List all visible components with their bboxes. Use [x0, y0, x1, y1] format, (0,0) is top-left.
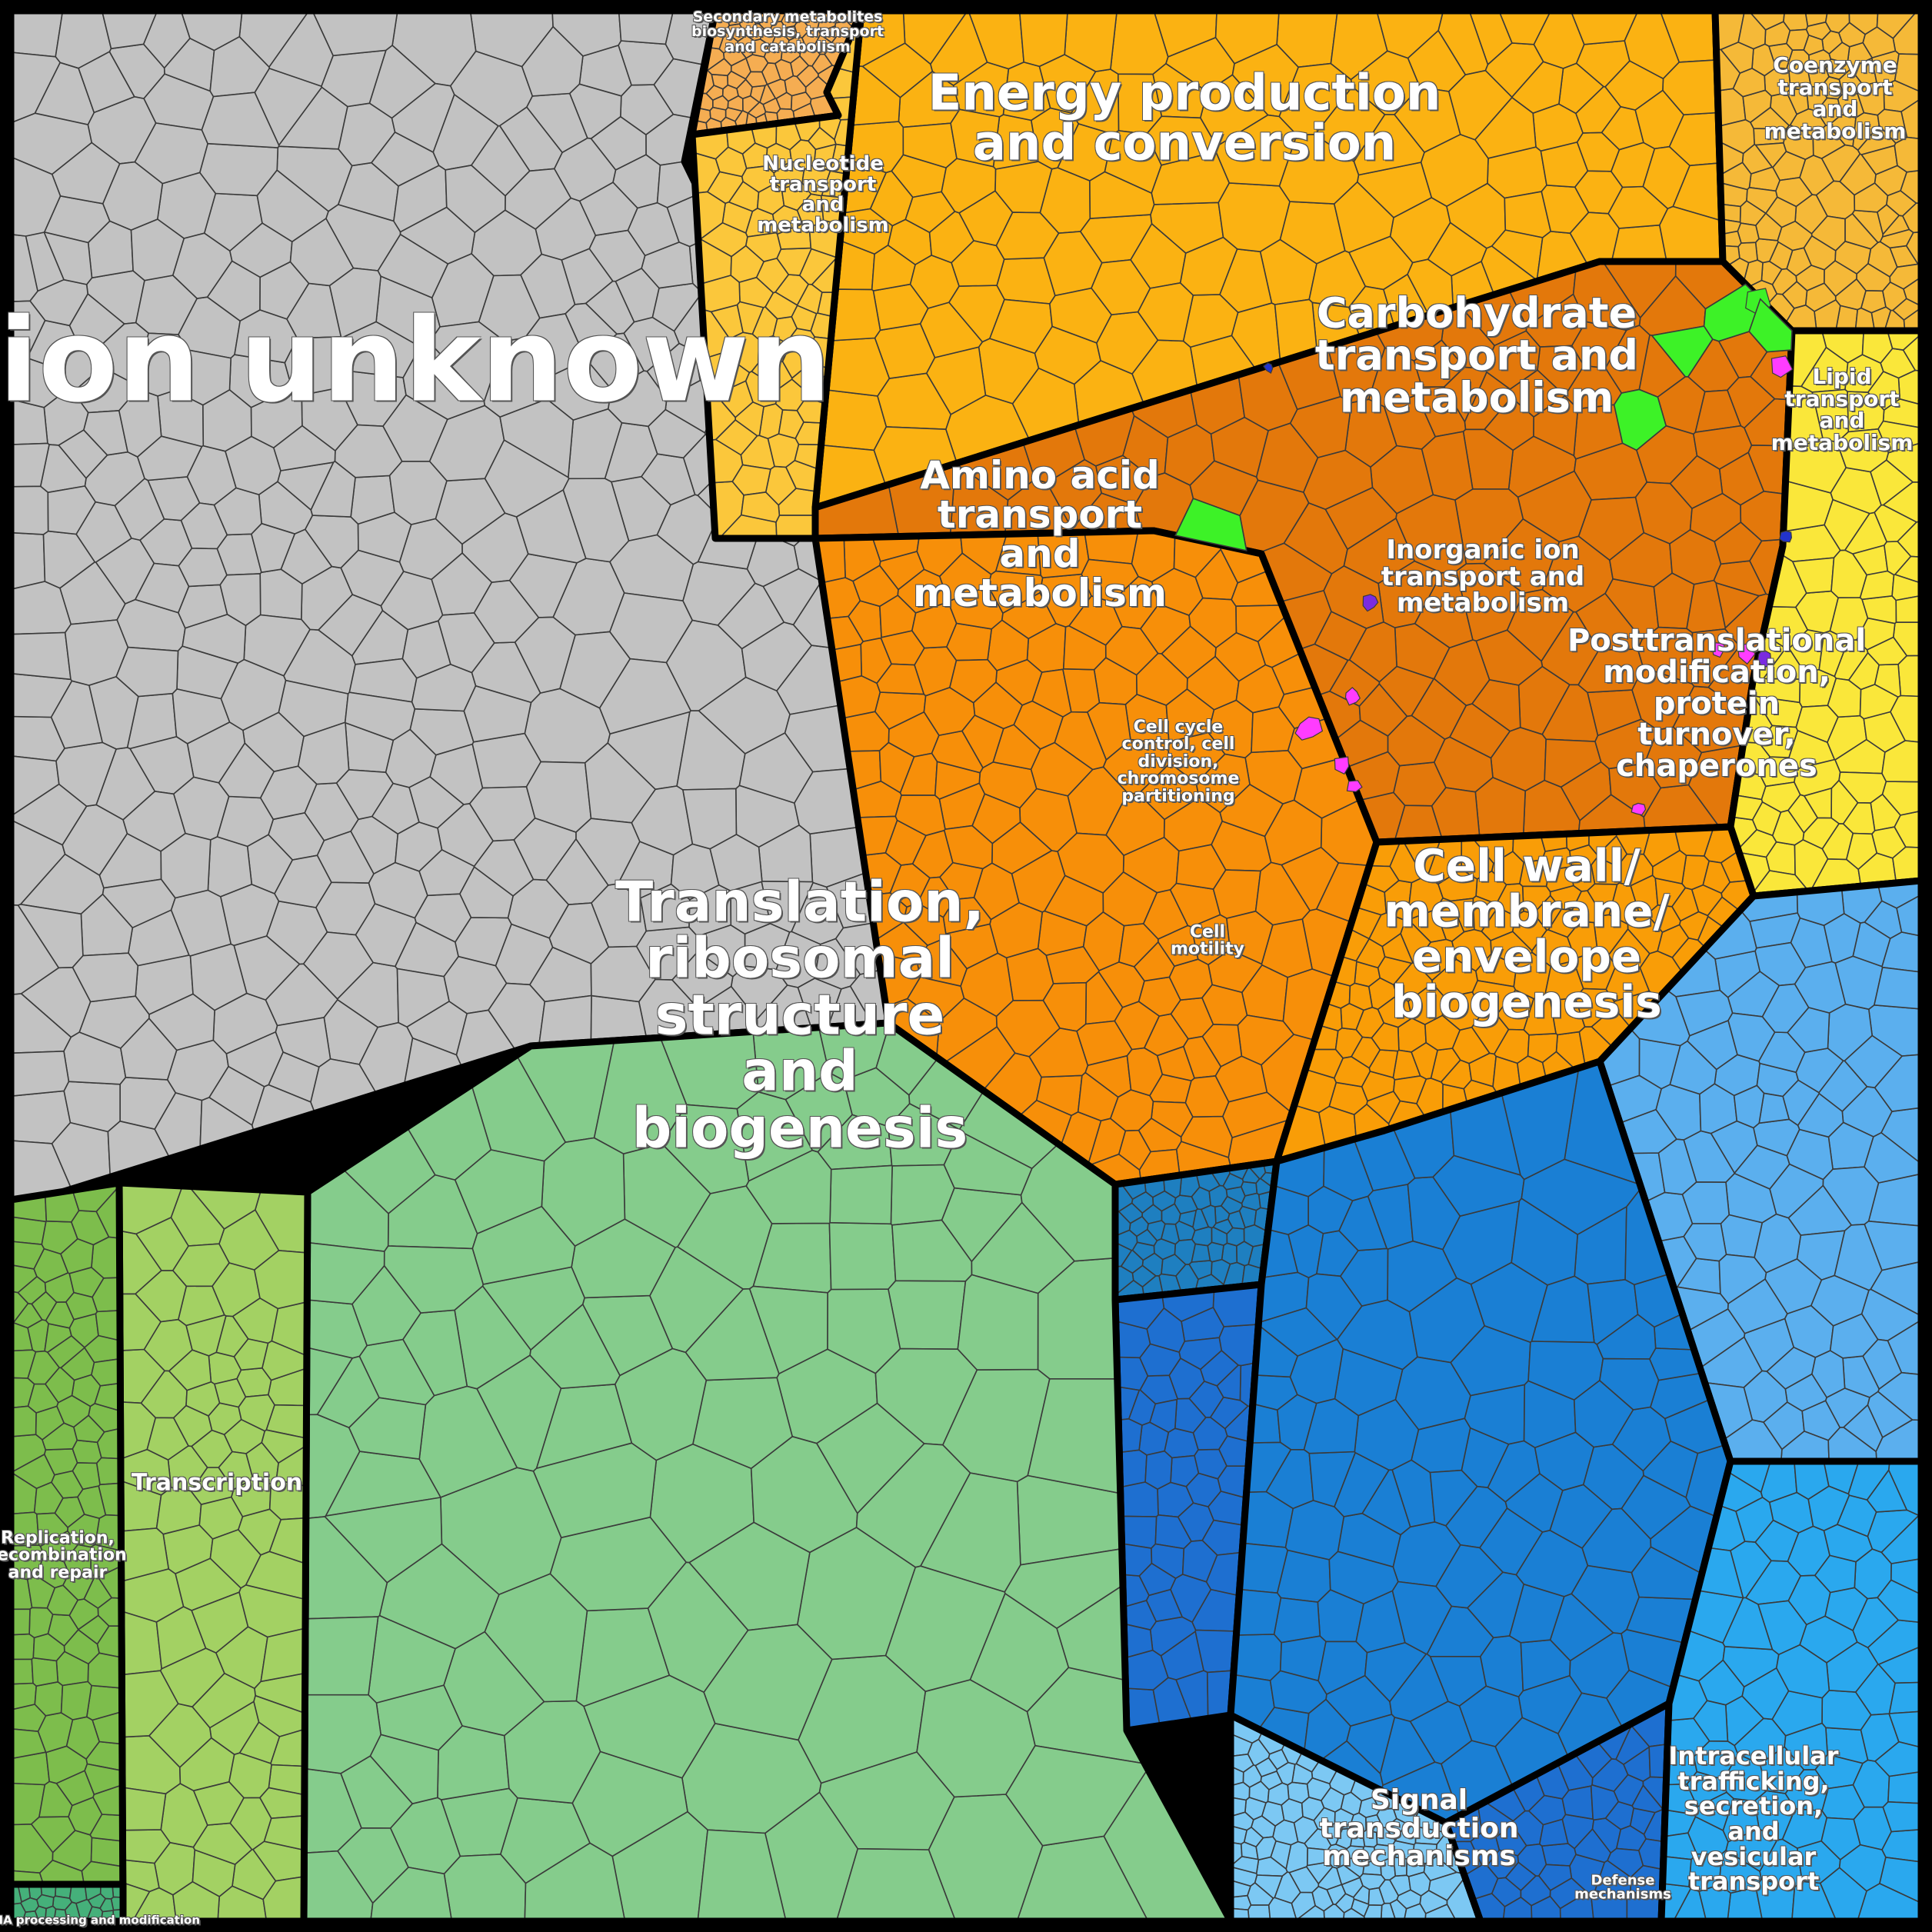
voronoi-cell — [1038, 532, 1088, 578]
voronoi-cell — [11, 633, 71, 680]
voronoi-cell — [1236, 1590, 1281, 1635]
region-replication-recombination[interactable] — [11, 1183, 123, 1921]
voronoi-treemap-figure: Function unknownSecondary metabolites bi… — [0, 0, 1932, 1932]
voronoi-cell — [1627, 1893, 1662, 1921]
voronoi-cell — [1611, 225, 1667, 261]
voronoi-cell — [122, 1787, 165, 1830]
voronoi-cell — [829, 1223, 895, 1290]
voronoi-cell — [821, 390, 887, 451]
region-cells — [119, 1183, 308, 1921]
voronoi-cell — [830, 1165, 892, 1224]
voronoi-cell — [96, 1311, 121, 1341]
voronoi-cell — [539, 996, 591, 1046]
voronoi-cell — [1191, 1244, 1210, 1262]
voronoi-cell — [305, 1617, 378, 1695]
voronoi-cell — [1874, 968, 1921, 1009]
voronoi-cell — [1520, 860, 1549, 886]
voronoi-cell — [619, 11, 674, 44]
voronoi-cell — [1286, 1501, 1344, 1560]
voronoi-cell — [951, 109, 999, 166]
voronoi-cell — [11, 11, 63, 57]
voronoi-cell — [11, 1634, 35, 1660]
region-rna-processing[interactable] — [11, 1884, 123, 1921]
voronoi-cell — [1274, 1598, 1321, 1643]
region-cell-cycle-control[interactable] — [1115, 1161, 1277, 1300]
voronoi-cell — [285, 337, 349, 395]
voronoi-cell — [1890, 1683, 1922, 1714]
region-cells — [11, 1183, 123, 1921]
voronoi-cell — [11, 1512, 39, 1546]
voronoi-cell — [1888, 1772, 1921, 1804]
voronoi-cell — [11, 1051, 68, 1096]
voronoi-cell — [1894, 138, 1921, 172]
voronoi-cell — [1121, 1516, 1157, 1548]
voronoi-canvas — [0, 0, 1932, 1932]
voronoi-cell — [1234, 1634, 1281, 1681]
voronoi-cell — [11, 486, 48, 535]
region-transcription[interactable] — [119, 1183, 308, 1921]
voronoi-cell — [1084, 531, 1138, 565]
voronoi-cell — [32, 1658, 58, 1687]
region-cells — [11, 1884, 123, 1921]
voronoi-cell — [62, 1682, 92, 1720]
voronoi-cell — [1121, 1482, 1159, 1517]
voronoi-cell — [1394, 1857, 1407, 1876]
voronoi-cell — [1591, 1890, 1627, 1921]
voronoi-cell — [11, 533, 45, 590]
voronoi-cell — [1542, 1844, 1576, 1866]
voronoi-cell — [1007, 948, 1054, 1001]
voronoi-cell — [1663, 1857, 1691, 1887]
voronoi-cell — [37, 1895, 54, 1909]
voronoi-cell — [1896, 596, 1921, 623]
voronoi-cell — [888, 1281, 966, 1349]
voronoi-cell — [1227, 1228, 1244, 1246]
voronoi-cell — [97, 1457, 121, 1484]
voronoi-cell — [11, 1406, 36, 1437]
voronoi-cell — [1145, 1451, 1172, 1490]
voronoi-cell — [591, 996, 646, 1042]
highlighted-cell[interactable] — [1631, 803, 1645, 814]
voronoi-cell — [1307, 1848, 1329, 1866]
voronoi-cell — [1756, 1880, 1794, 1921]
voronoi-cell — [1789, 69, 1811, 90]
highlighted-cell[interactable] — [1780, 531, 1792, 542]
